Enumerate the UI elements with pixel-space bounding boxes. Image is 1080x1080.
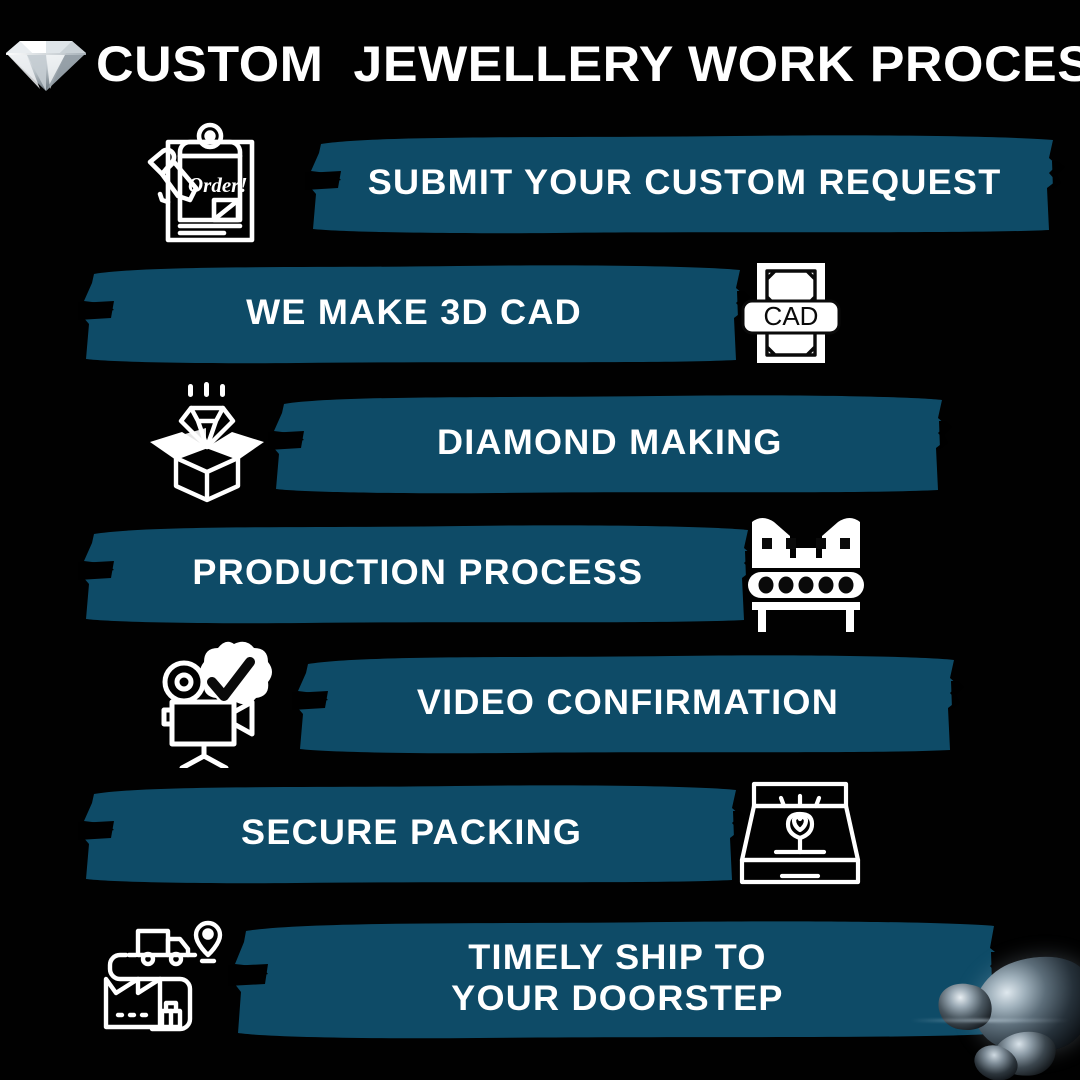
ring-jewellery-box-icon: [736, 780, 864, 886]
step-banner-3[interactable]: DIAMOND MAKING: [268, 391, 952, 495]
diamond-gem-icon: [2, 33, 90, 95]
process-step-6: SECURE PACKING: [0, 768, 1080, 898]
cad-printer-text: CAD: [764, 301, 819, 331]
step-banner-7[interactable]: TIMELY SHIP TO YOUR DOORSTEP: [228, 916, 1006, 1040]
process-step-5: VIDEO CONFIRMATION: [0, 638, 1080, 768]
step-label-5: VIDEO CONFIRMATION: [390, 682, 866, 723]
process-step-3: DIAMOND MAKING: [0, 378, 1080, 508]
step-label-7: TIMELY SHIP TO YOUR DOORSTEP: [424, 937, 810, 1020]
step-banner-5[interactable]: VIDEO CONFIRMATION: [292, 651, 964, 755]
clipboard-order-text: Order!: [188, 173, 248, 197]
truck-factory-location-icon: [96, 917, 228, 1039]
process-step-2: WE MAKE 3D CAD CAD: [0, 248, 1080, 378]
cad-printer-icon: CAD: [735, 261, 847, 365]
step-label-3: DIAMOND MAKING: [410, 422, 809, 463]
step-banner-1[interactable]: SUBMIT YOUR CUSTOM REQUEST: [305, 131, 1065, 235]
process-step-1: Order! SUBMIT YOUR CUSTOM REQUEST: [0, 118, 1080, 248]
clipboard-order-pencil-icon: Order!: [128, 120, 288, 246]
step-banner-4[interactable]: PRODUCTION PROCESS: [78, 521, 758, 625]
step-banner-2[interactable]: WE MAKE 3D CAD: [78, 261, 750, 365]
conveyor-machine-icon: [742, 514, 870, 632]
process-steps-list: Order! SUBMIT YOUR CUSTOM REQUEST: [0, 118, 1080, 1058]
step-label-4: PRODUCTION PROCESS: [166, 552, 670, 593]
diamond-in-open-box-icon: [142, 382, 272, 504]
process-step-7: TIMELY SHIP TO YOUR DOORSTEP: [0, 898, 1080, 1058]
process-step-4: PRODUCTION PROCESS: [0, 508, 1080, 638]
step-label-6: SECURE PACKING: [215, 812, 610, 853]
step-banner-6[interactable]: SECURE PACKING: [78, 781, 746, 885]
page-title: CUSTOM JEWELLERY WORK PROCESS: [96, 39, 1080, 89]
step-label-2: WE MAKE 3D CAD: [219, 292, 608, 333]
step-label-1: SUBMIT YOUR CUSTOM REQUEST: [341, 162, 1028, 203]
video-camera-check-icon: [160, 638, 288, 768]
page-header: CUSTOM JEWELLERY WORK PROCESS: [0, 18, 1080, 110]
